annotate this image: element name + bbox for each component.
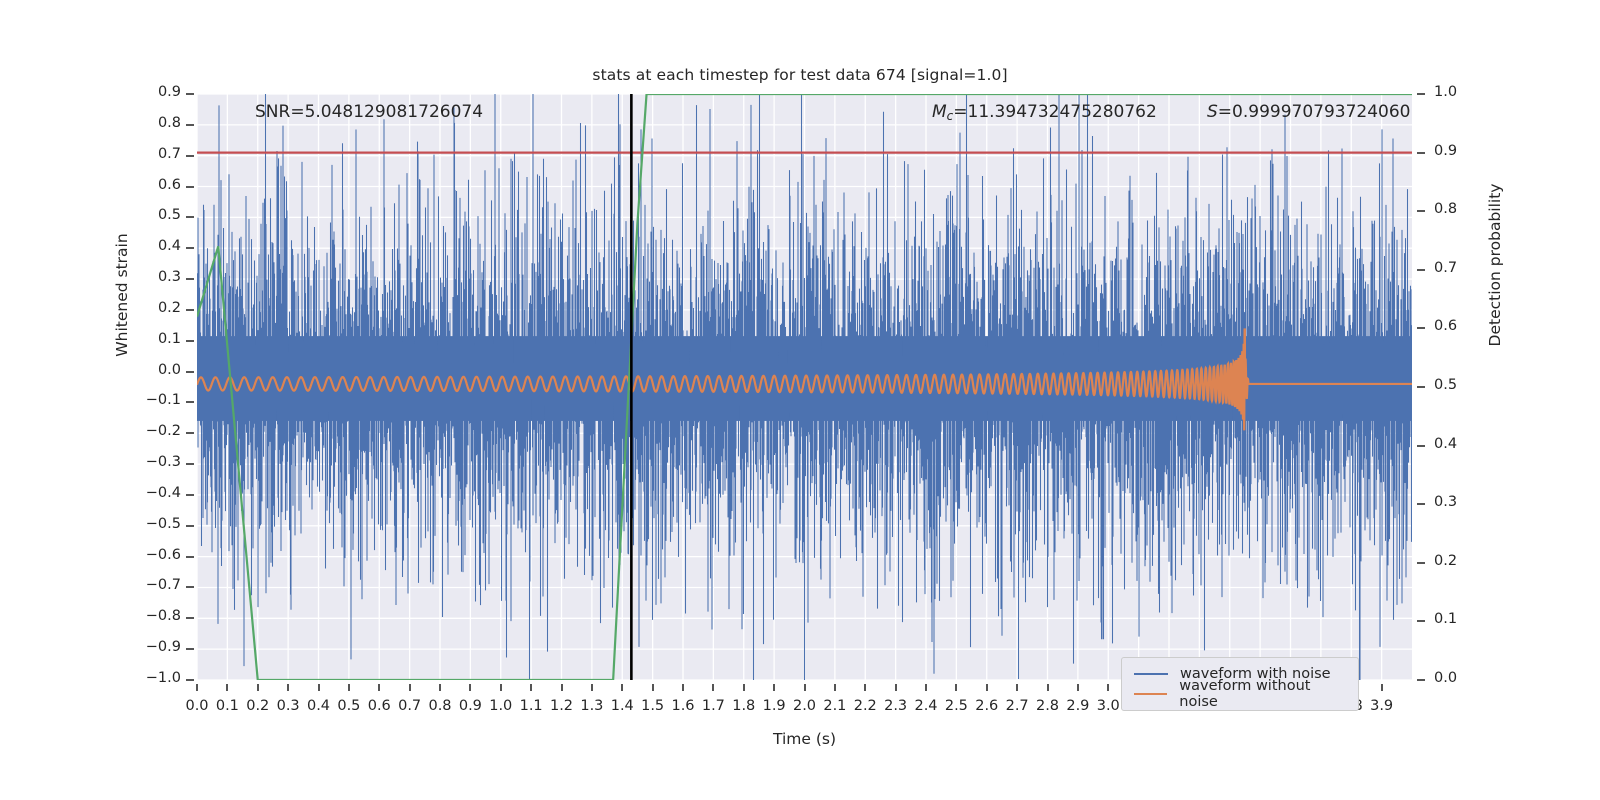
x-axis-tick-mark — [925, 684, 927, 691]
y-axis-right-tick-label: 0.5 — [1434, 377, 1457, 393]
y-axis-right-tick-mark — [1417, 679, 1425, 681]
y-axis-left-tick-label: 0.8 — [125, 115, 181, 131]
y-axis-left-tick-mark — [186, 463, 194, 465]
y-axis-left-tick-label: −0.4 — [125, 485, 181, 501]
y-axis-left-tick-mark — [186, 371, 194, 373]
y-axis-left-tick-mark — [186, 93, 194, 95]
x-axis-tick-mark — [955, 684, 957, 691]
y-axis-left-tick-label: 0.5 — [125, 207, 181, 223]
x-axis-tick-mark — [773, 684, 775, 691]
y-axis-right-tick-mark — [1417, 503, 1425, 505]
x-axis-tick-mark — [348, 684, 350, 691]
legend-item[interactable]: waveform without noise — [1130, 684, 1350, 704]
y-axis-left-tick-mark — [186, 679, 194, 681]
y-axis-left-tick-label: −0.2 — [125, 423, 181, 439]
y-axis-left-tick-mark — [186, 186, 194, 188]
y-axis-left-tick-label: −0.9 — [125, 639, 181, 655]
annotation-chirp-mass-value: =11.394732475280762 — [953, 102, 1157, 122]
x-axis-tick-mark — [196, 684, 198, 691]
x-axis-tick-mark — [864, 684, 866, 691]
y-axis-left-tick-mark — [186, 155, 194, 157]
x-axis-tick-mark — [226, 684, 228, 691]
y-axis-left-tick-mark — [186, 247, 194, 249]
annotation-signal-score-symbol: S — [1207, 102, 1218, 122]
y-axis-left-tick-label: 0.9 — [125, 84, 181, 100]
annotation-signal-score-value: =0.9999707937240601 — [1218, 102, 1412, 122]
x-axis-tick-mark — [469, 684, 471, 691]
x-axis-tick-mark — [287, 684, 289, 691]
y-axis-left-tick-mark — [186, 309, 194, 311]
y-axis-left-tick-label: 0.0 — [125, 362, 181, 378]
x-axis-tick-mark — [743, 684, 745, 691]
y-axis-left-tick-label: −0.8 — [125, 608, 181, 624]
y-axis-right-tick-mark — [1417, 269, 1425, 271]
x-axis-tick-mark — [652, 684, 654, 691]
annotation-chirp-mass: Mc=11.394732475280762 — [932, 102, 1157, 123]
y-axis-right-tick-label: 0.8 — [1434, 201, 1457, 217]
x-axis-tick-mark — [986, 684, 988, 691]
plot-svg — [197, 94, 1412, 680]
x-axis-tick-mark — [712, 684, 714, 691]
y-axis-left-tick-label: 0.7 — [125, 146, 181, 162]
annotation-chirp-mass-symbol: M — [932, 102, 947, 122]
y-axis-left-tick-label: 0.3 — [125, 269, 181, 285]
legend-item-label: waveform without noise — [1179, 678, 1350, 710]
y-axis-left-tick-mark — [186, 432, 194, 434]
y-axis-left-tick-label: −0.1 — [125, 392, 181, 408]
x-axis-tick-mark — [834, 684, 836, 691]
plot-area: SNR=5.048129081726074 Mc=11.394732475280… — [197, 94, 1412, 680]
x-axis-tick-mark — [1381, 684, 1383, 691]
x-axis-tick-mark — [1016, 684, 1018, 691]
y-axis-right-tick-label: 1.0 — [1434, 84, 1457, 100]
x-axis-tick-mark — [409, 684, 411, 691]
y-axis-left-tick-label: 0.1 — [125, 331, 181, 347]
y-axis-left-tick-mark — [186, 556, 194, 558]
annotation-snr: SNR=5.048129081726074 — [255, 102, 483, 122]
y-axis-right-tick-label: 0.2 — [1434, 553, 1457, 569]
y-axis-right-tick-mark — [1417, 93, 1425, 95]
y-axis-right-tick-label: 0.9 — [1434, 143, 1457, 159]
x-axis-tick-mark — [682, 684, 684, 691]
x-axis-tick-mark — [804, 684, 806, 691]
x-axis-tick-mark — [257, 684, 259, 691]
y-axis-right-tick-label: 0.0 — [1434, 670, 1457, 686]
x-axis-tick-mark — [1047, 684, 1049, 691]
x-axis-tick-mark — [439, 684, 441, 691]
y-axis-left-tick-label: −1.0 — [125, 670, 181, 686]
page-title: stats at each timestep for test data 674… — [0, 66, 1600, 84]
y-axis-left-tick-label: 0.4 — [125, 238, 181, 254]
y-axis-right-label: Detection probability — [1486, 115, 1504, 415]
y-axis-left-tick-mark — [186, 525, 194, 527]
x-axis-tick-mark — [1107, 684, 1109, 691]
figure-canvas: stats at each timestep for test data 674… — [0, 0, 1600, 800]
x-axis-tick-mark — [1077, 684, 1079, 691]
y-axis-right-tick-label: 0.7 — [1434, 260, 1457, 276]
y-axis-right-tick-mark — [1417, 620, 1425, 622]
y-axis-right-tick-mark — [1417, 562, 1425, 564]
x-axis-tick-label: 3.9 — [1362, 698, 1402, 714]
legend-line-swatch-blue — [1134, 673, 1168, 675]
x-axis-tick-mark — [318, 684, 320, 691]
x-axis-tick-mark — [895, 684, 897, 691]
y-axis-left-tick-label: −0.3 — [125, 454, 181, 470]
y-axis-right-tick-label: 0.1 — [1434, 611, 1457, 627]
x-axis-tick-mark — [591, 684, 593, 691]
y-axis-right-tick-mark — [1417, 386, 1425, 388]
y-axis-right-tick-label: 0.4 — [1434, 436, 1457, 452]
y-axis-left-tick-mark — [186, 278, 194, 280]
y-axis-right-tick-mark — [1417, 327, 1425, 329]
y-axis-right-tick-mark — [1417, 210, 1425, 212]
y-axis-left-tick-label: −0.6 — [125, 547, 181, 563]
y-axis-left-tick-mark — [186, 340, 194, 342]
y-axis-left-tick-label: −0.7 — [125, 577, 181, 593]
x-axis-tick-mark — [621, 684, 623, 691]
y-axis-left-tick-mark — [186, 494, 194, 496]
y-axis-left-tick-mark — [186, 586, 194, 588]
x-axis-tick-mark — [561, 684, 563, 691]
legend[interactable]: waveform with noise waveform without noi… — [1121, 657, 1359, 711]
x-axis-tick-mark — [378, 684, 380, 691]
y-axis-right-tick-mark — [1417, 445, 1425, 447]
y-axis-left-tick-label: 0.2 — [125, 300, 181, 316]
y-axis-left-tick-mark — [186, 617, 194, 619]
y-axis-left-tick-label: 0.6 — [125, 177, 181, 193]
x-axis-tick-mark — [500, 684, 502, 691]
y-axis-left-tick-mark — [186, 401, 194, 403]
y-axis-right-tick-label: 0.6 — [1434, 318, 1457, 334]
x-axis-tick-mark — [530, 684, 532, 691]
y-axis-left-tick-label: −0.5 — [125, 516, 181, 532]
y-axis-left-tick-mark — [186, 648, 194, 650]
y-axis-right-tick-mark — [1417, 152, 1425, 154]
annotation-signal-score: S=0.9999707937240601 — [1207, 102, 1412, 122]
x-axis-label: Time (s) — [197, 730, 1412, 748]
y-axis-left-tick-mark — [186, 124, 194, 126]
legend-line-swatch-orange — [1134, 693, 1167, 695]
y-axis-left-tick-mark — [186, 216, 194, 218]
y-axis-right-tick-label: 0.3 — [1434, 494, 1457, 510]
